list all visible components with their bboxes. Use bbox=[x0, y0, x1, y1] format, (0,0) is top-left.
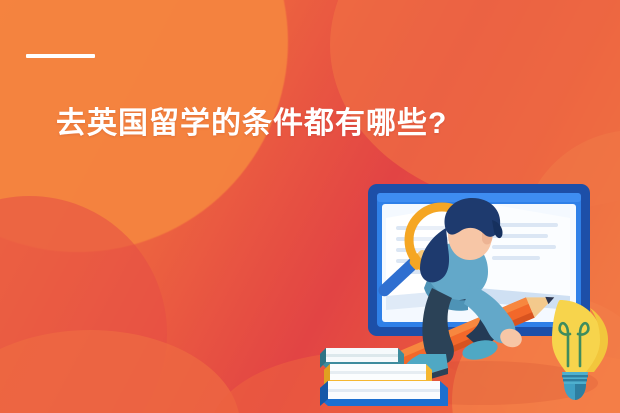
student-research-illustration bbox=[320, 178, 620, 413]
page-title: 去英国留学的条件都有哪些? bbox=[56, 106, 447, 142]
promo-banner: 去英国留学的条件都有哪些? bbox=[0, 0, 620, 413]
title-accent-rule bbox=[26, 54, 95, 58]
